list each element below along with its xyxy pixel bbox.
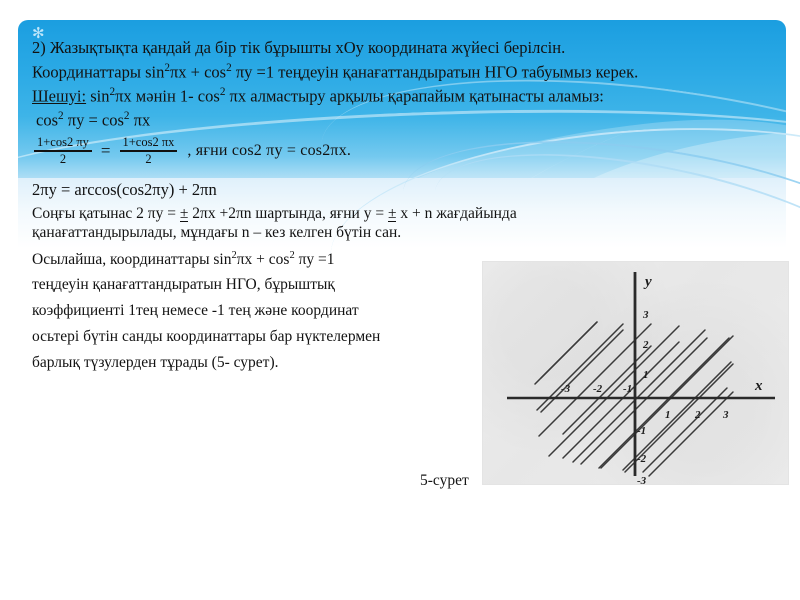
y-tick-3: 3	[642, 309, 649, 321]
body-line-9: Осылайша, координаттары sin2πх + cos2 πу…	[32, 250, 335, 269]
body-line-12: осьтері бүтін санды координаттары бар нү…	[32, 328, 380, 346]
x-tick-minus-3: -3	[561, 383, 571, 395]
y-tick-minus-1: -1	[637, 425, 646, 437]
line9-part-b: πх + cos	[237, 251, 290, 268]
body-line-11: коэффициенті 1тең немесе -1 тең және коо…	[32, 302, 359, 320]
fraction-equation: 1+cos2 πу 2 = 1+cos2 πх 2 , яғни cos2 πу…	[30, 136, 351, 166]
x-tick-minus-1: -1	[623, 383, 632, 395]
figure-caption: 5-сурет	[420, 472, 469, 490]
x-tick-3: 3	[722, 409, 729, 421]
x-axis-label: x	[754, 378, 763, 394]
line2-part-a: Координаттары sin	[32, 63, 164, 82]
x-tick-2: 2	[694, 409, 701, 421]
line7-part-c: х + n жағдайында	[396, 205, 516, 222]
plus-minus-2: ±	[388, 205, 397, 223]
line3-part-c: πх алмастыру арқылы қарапайым қатынасты …	[225, 87, 603, 106]
line7-part-b: 2πх +2πn шартында, яғни у =	[188, 205, 388, 222]
coordinate-plane-graphic: x y 3 2 1 -1 -2 -3 -3 -2 -1 1 2 3	[483, 262, 788, 484]
fraction-right-denominator: 2	[145, 153, 151, 166]
body-line-4: cos2 πу = cos2 πх	[36, 110, 150, 131]
plus-minus-1: ±	[180, 205, 189, 223]
line9-part-a: Осылайша, координаттары sin	[32, 251, 231, 268]
y-tick-2: 2	[642, 339, 649, 351]
y-tick-minus-2: -2	[637, 453, 647, 465]
line4-part-c: πх	[129, 111, 150, 130]
body-line-3: Шешуі: sin2πх мәнін 1- cos2 πх алмастыру…	[32, 86, 604, 107]
body-line-8: қанағаттандырылады, мұндағы n – кез келг…	[32, 224, 401, 242]
fraction-right-numerator: 1+cos2 πх	[120, 136, 178, 149]
figure-image: x y 3 2 1 -1 -2 -3 -3 -2 -1 1 2 3	[483, 262, 788, 484]
fraction-left-denominator: 2	[60, 153, 66, 166]
body-line-10: теңдеуін қанағаттандыратын НГО, бұрыштық	[32, 276, 335, 294]
body-line-2: Координаттары sin2πх + cos2 πу =1 теңдеу…	[32, 62, 638, 83]
line4-part-a: cos	[36, 111, 58, 130]
solution-label: Шешуі:	[32, 87, 86, 106]
line9-part-c: πу =1	[295, 251, 335, 268]
equals-sign: =	[101, 141, 111, 161]
body-line-7: Соңғы қатынас 2 πу = ± 2πх +2πn шартында…	[32, 205, 517, 223]
line4-part-b: πу = cos	[64, 111, 124, 130]
y-tick-1: 1	[643, 369, 649, 381]
y-tick-minus-3: -3	[637, 475, 647, 484]
fraction-left: 1+cos2 πу 2	[34, 136, 92, 166]
line3-part-b: πх мәнін 1- cos	[115, 87, 220, 106]
y-axis-label: y	[643, 274, 652, 290]
body-line-1: 2) Жазықтықта қандай да бір тік бұрышты …	[32, 38, 565, 58]
x-tick-minus-2: -2	[593, 383, 603, 395]
fraction-tail-text: , яғни cos2 πу = cos2πх.	[187, 142, 351, 160]
line7-part-a: Соңғы қатынас 2 πу =	[32, 205, 180, 222]
fraction-left-numerator: 1+cos2 πу	[34, 136, 92, 149]
body-line-13: барлық түзулерден тұрады (5- сурет).	[32, 354, 279, 372]
slide: ✻ 2) Жазықтықта қандай да бір тік бұрышт…	[0, 0, 800, 600]
x-tick-1: 1	[665, 409, 671, 421]
body-line-6: 2πу = arccos(cos2πу) + 2πn	[32, 180, 217, 200]
line3-part-a: sin	[86, 87, 109, 106]
line2-part-b: πх + cos	[170, 63, 226, 82]
line2-part-c: πу =1 теңдеуін қанағаттандыратын НГО таб…	[232, 63, 639, 82]
fraction-right: 1+cos2 πх 2	[120, 136, 178, 166]
